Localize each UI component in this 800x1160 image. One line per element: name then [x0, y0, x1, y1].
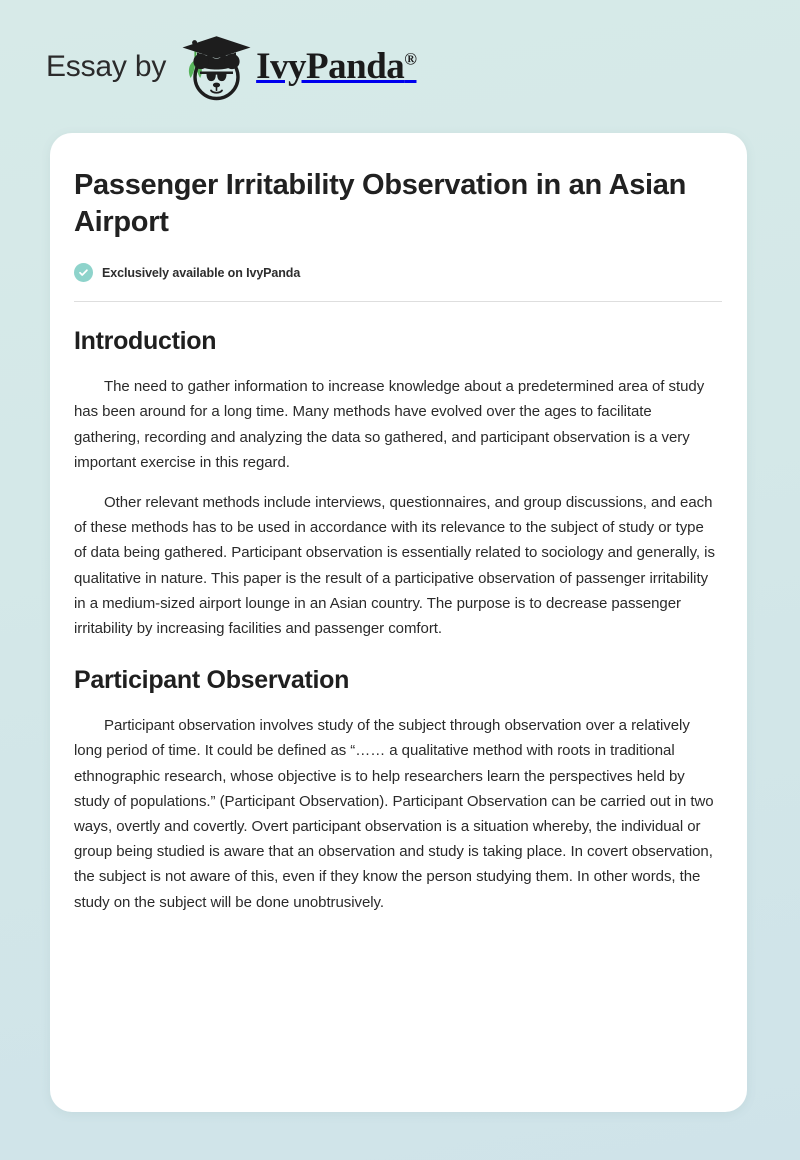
header-divider: [74, 301, 722, 302]
section-heading-participant-observation: Participant Observation: [74, 665, 721, 695]
paragraph: Other relevant methods include interview…: [74, 490, 720, 641]
page-title: Passenger Irritability Observation in an…: [74, 167, 714, 241]
paragraph: The need to gather information to increa…: [74, 374, 720, 475]
essay-card: Passenger Irritability Observation in an…: [50, 133, 747, 1112]
status-badge: Exclusively available on IvyPanda: [74, 263, 721, 282]
wordmark-text: IvyPanda: [256, 46, 404, 87]
ivypanda-logo-link[interactable]: IvyPanda®: [180, 33, 416, 101]
ivypanda-wordmark: IvyPanda®: [256, 48, 416, 85]
registered-mark: ®: [404, 50, 416, 69]
section-heading-introduction: Introduction: [74, 326, 721, 356]
paragraph: Participant observation involves study o…: [74, 713, 720, 915]
check-circle-icon: [74, 263, 93, 282]
essay-by-label: Essay by: [46, 52, 166, 82]
status-badge-label: Exclusively available on IvyPanda: [102, 266, 300, 280]
site-header: Essay by: [0, 0, 800, 133]
card-content: Passenger Irritability Observation in an…: [50, 133, 747, 915]
panda-graduate-icon: [180, 33, 254, 101]
